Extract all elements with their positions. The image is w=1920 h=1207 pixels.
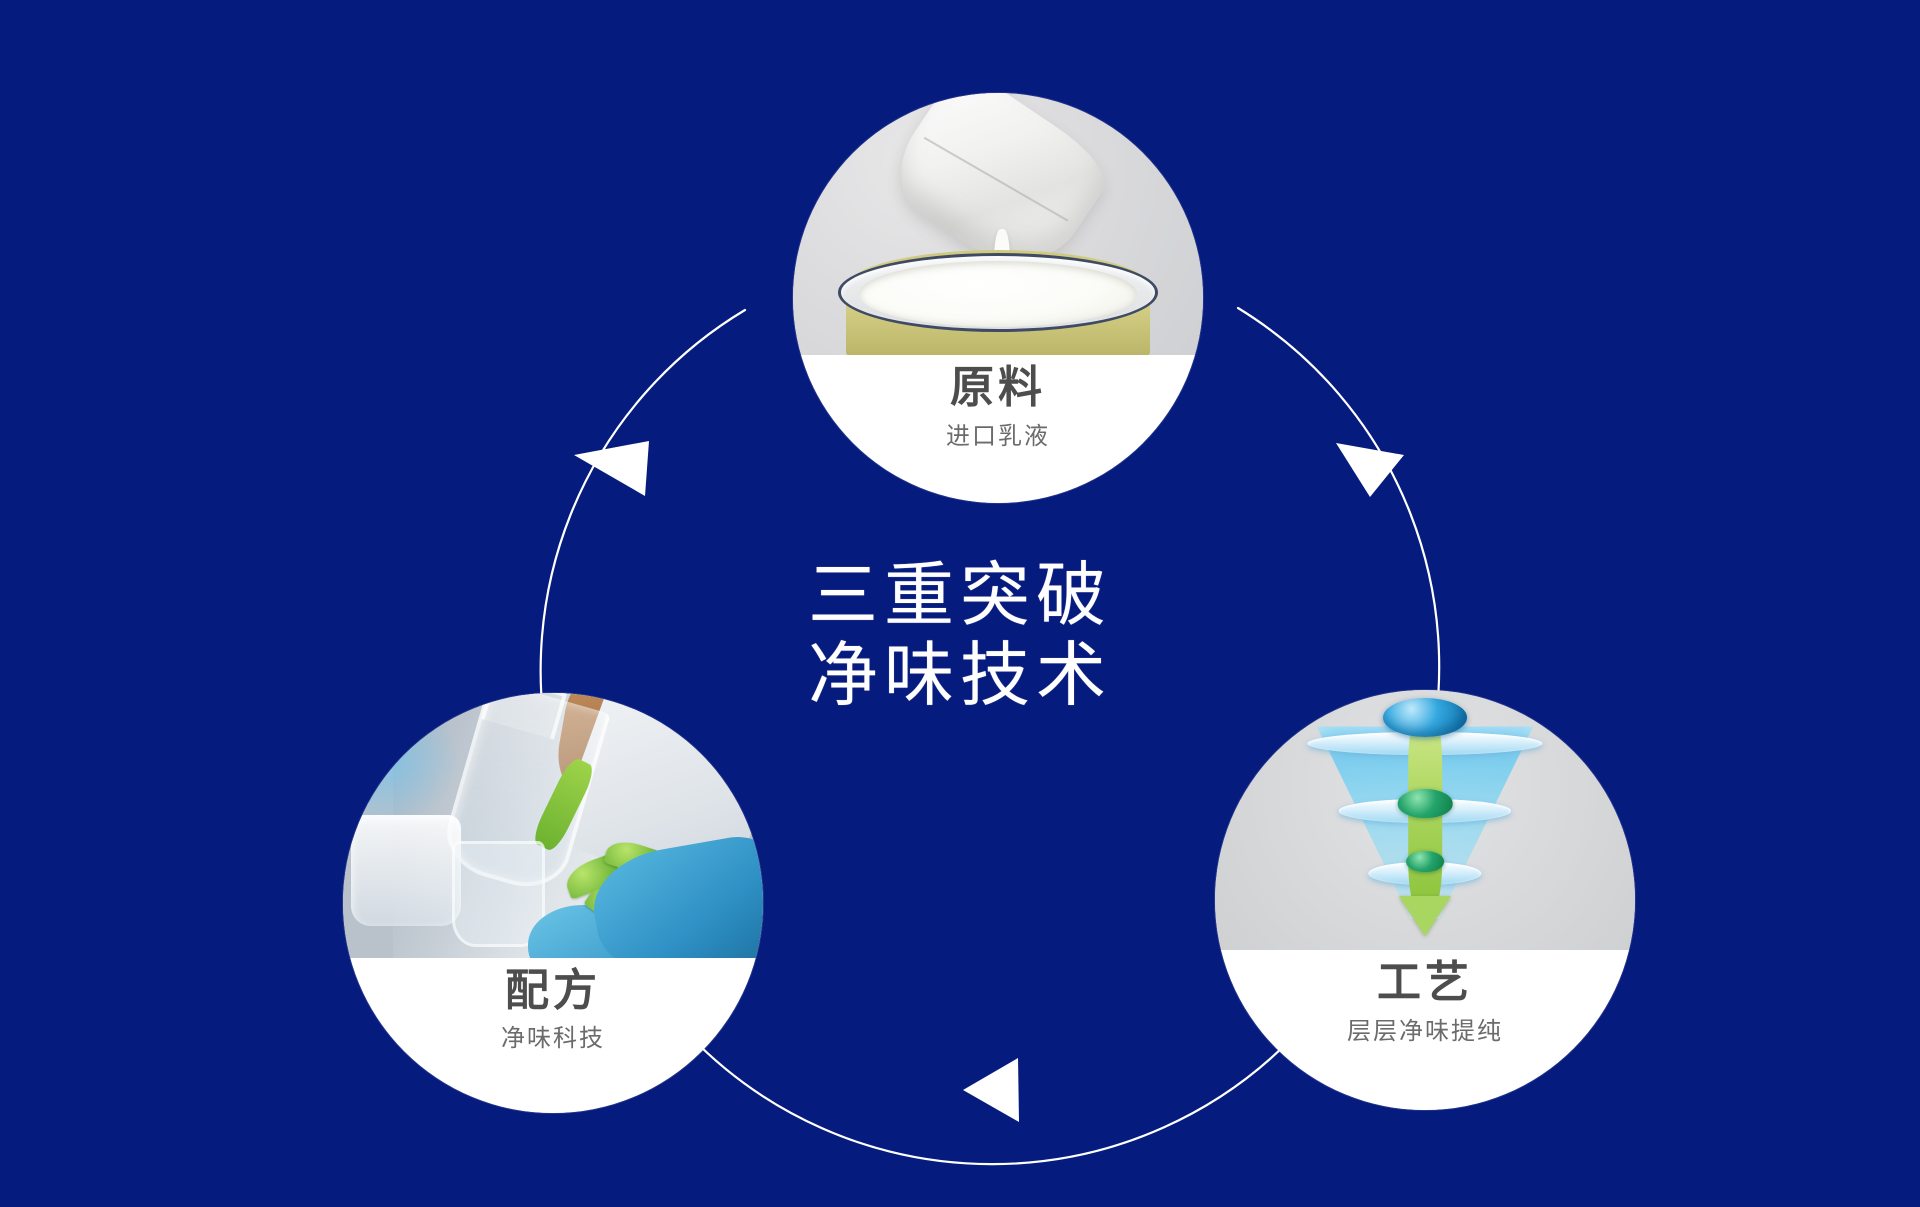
node-formula-subtitle: 净味科技 bbox=[501, 1018, 605, 1053]
arrow-to-formula-icon bbox=[963, 1058, 1019, 1122]
node-material-label: 原料 进口乳液 bbox=[793, 355, 1203, 503]
node-material-subtitle: 进口乳液 bbox=[946, 416, 1050, 451]
down-arrow-icon bbox=[1399, 896, 1451, 936]
node-formula-artwork bbox=[343, 693, 763, 958]
headline: 三重突破 净味技术 bbox=[0, 556, 1920, 716]
green-droplet-2-icon bbox=[1406, 851, 1444, 872]
node-material[interactable]: 原料 进口乳液 bbox=[793, 93, 1203, 503]
node-process-title: 工艺 bbox=[1377, 960, 1473, 1006]
poster-canvas: 原料 进口乳液 bbox=[0, 0, 1920, 1207]
headline-line-1: 三重突破 bbox=[0, 556, 1920, 636]
node-process[interactable]: 工艺 层层净味提纯 bbox=[1215, 690, 1635, 1110]
beaker-left-icon bbox=[351, 815, 460, 926]
node-process-label: 工艺 层层净味提纯 bbox=[1215, 950, 1635, 1110]
green-droplet-1-icon bbox=[1398, 789, 1453, 818]
node-process-artwork bbox=[1215, 690, 1635, 950]
node-process-subtitle: 层层净味提纯 bbox=[1347, 1011, 1503, 1046]
node-formula[interactable]: 配方 净味科技 bbox=[343, 693, 763, 1113]
node-formula-title: 配方 bbox=[505, 968, 601, 1014]
paint-surface bbox=[859, 261, 1138, 327]
arrow-to-process-icon bbox=[1336, 443, 1404, 497]
blue-highlight bbox=[343, 709, 461, 831]
node-material-artwork bbox=[793, 93, 1203, 355]
arrow-to-material-icon bbox=[574, 441, 649, 496]
node-material-title: 原料 bbox=[950, 365, 1046, 411]
headline-line-2: 净味技术 bbox=[0, 636, 1920, 716]
node-formula-label: 配方 净味科技 bbox=[343, 958, 763, 1113]
arc-process-to-formula bbox=[690, 1035, 1295, 1164]
